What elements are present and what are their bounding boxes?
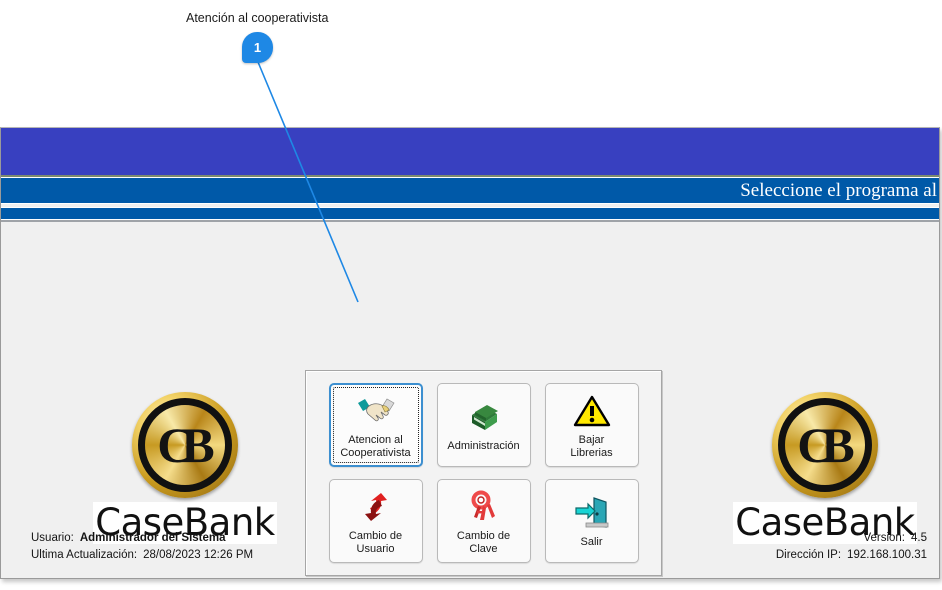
menu-button-label: Administración	[447, 440, 519, 453]
coin-monogram: CB	[132, 392, 238, 498]
footer-ip-row: Dirección IP:192.168.100.31	[776, 547, 927, 564]
footer-actualizacion-row: Ultima Actualización:28/08/2023 12:26 PM	[31, 547, 253, 564]
menu-button-label: Cambio de Usuario	[349, 530, 402, 556]
menu-button-administracion[interactable]: Administración	[437, 383, 531, 467]
menu-button-atencion-al-cooperativista[interactable]: Atencion al Cooperativista	[329, 383, 423, 467]
menu-button-cambio-de-usuario[interactable]: Cambio de Usuario	[329, 479, 423, 563]
menu-grid: Atencion al Cooperativista	[316, 381, 651, 565]
footer-version-row: Version:4.5	[776, 530, 927, 547]
footer-actualizacion-value: 28/08/2023 12:26 PM	[143, 549, 253, 561]
menu-button-salir[interactable]: Salir	[545, 479, 639, 563]
footer-version-label: Version:	[863, 530, 905, 547]
annotation-label: Atención al cooperativista	[186, 11, 328, 25]
casebank-coin-icon: CB	[772, 392, 878, 498]
footer-left: Usuario:Administrador del Sistema Ultima…	[31, 530, 253, 564]
header-purple-band	[1, 128, 939, 175]
screenshot-root: Atención al cooperativista 1 Seleccione …	[0, 0, 942, 590]
logo-right: CB CaseBank	[725, 392, 925, 544]
footer-actualizacion-label: Ultima Actualización:	[31, 547, 137, 564]
menu-button-cambio-de-clave[interactable]: Cambio de Clave	[437, 479, 531, 563]
header-blue-band: Seleccione el programa al	[1, 177, 939, 204]
footer-usuario-label: Usuario:	[31, 530, 74, 547]
exit-door-icon	[572, 493, 612, 533]
menu-button-bajar-librerias[interactable]: Bajar Librerias	[545, 383, 639, 467]
footer-usuario-value: Administrador del Sistema	[80, 532, 226, 544]
keys-icon	[465, 487, 503, 527]
menu-button-label: Cambio de Clave	[457, 530, 510, 556]
footer-ip-value: 192.168.100.31	[847, 549, 927, 561]
coin-monogram: CB	[772, 392, 878, 498]
handshake-icon	[356, 391, 396, 431]
application-window: Seleccione el programa al CB CaseBank CB…	[0, 127, 940, 579]
footer-ip-label: Dirección IP:	[776, 547, 841, 564]
footer-usuario-row: Usuario:Administrador del Sistema	[31, 530, 253, 547]
warning-triangle-icon	[573, 391, 611, 431]
footer-version-value: 4.5	[911, 532, 927, 544]
annotation-badge-1: 1	[242, 32, 273, 63]
header-title: Seleccione el programa al	[740, 179, 937, 203]
menu-button-label: Salir	[580, 536, 602, 549]
refresh-arrows-icon	[357, 487, 395, 527]
menu-panel: Atencion al Cooperativista	[305, 370, 662, 576]
books-icon	[464, 397, 504, 437]
footer-right: Version:4.5 Dirección IP:192.168.100.31	[776, 530, 927, 564]
header-blue-band-secondary	[1, 207, 939, 220]
menu-button-label: Atencion al Cooperativista	[340, 434, 410, 460]
logo-left: CB CaseBank	[85, 392, 285, 544]
application-body: CB CaseBank CB CaseBank	[1, 222, 939, 578]
menu-button-label: Bajar Librerias	[570, 434, 612, 460]
casebank-coin-icon: CB	[132, 392, 238, 498]
